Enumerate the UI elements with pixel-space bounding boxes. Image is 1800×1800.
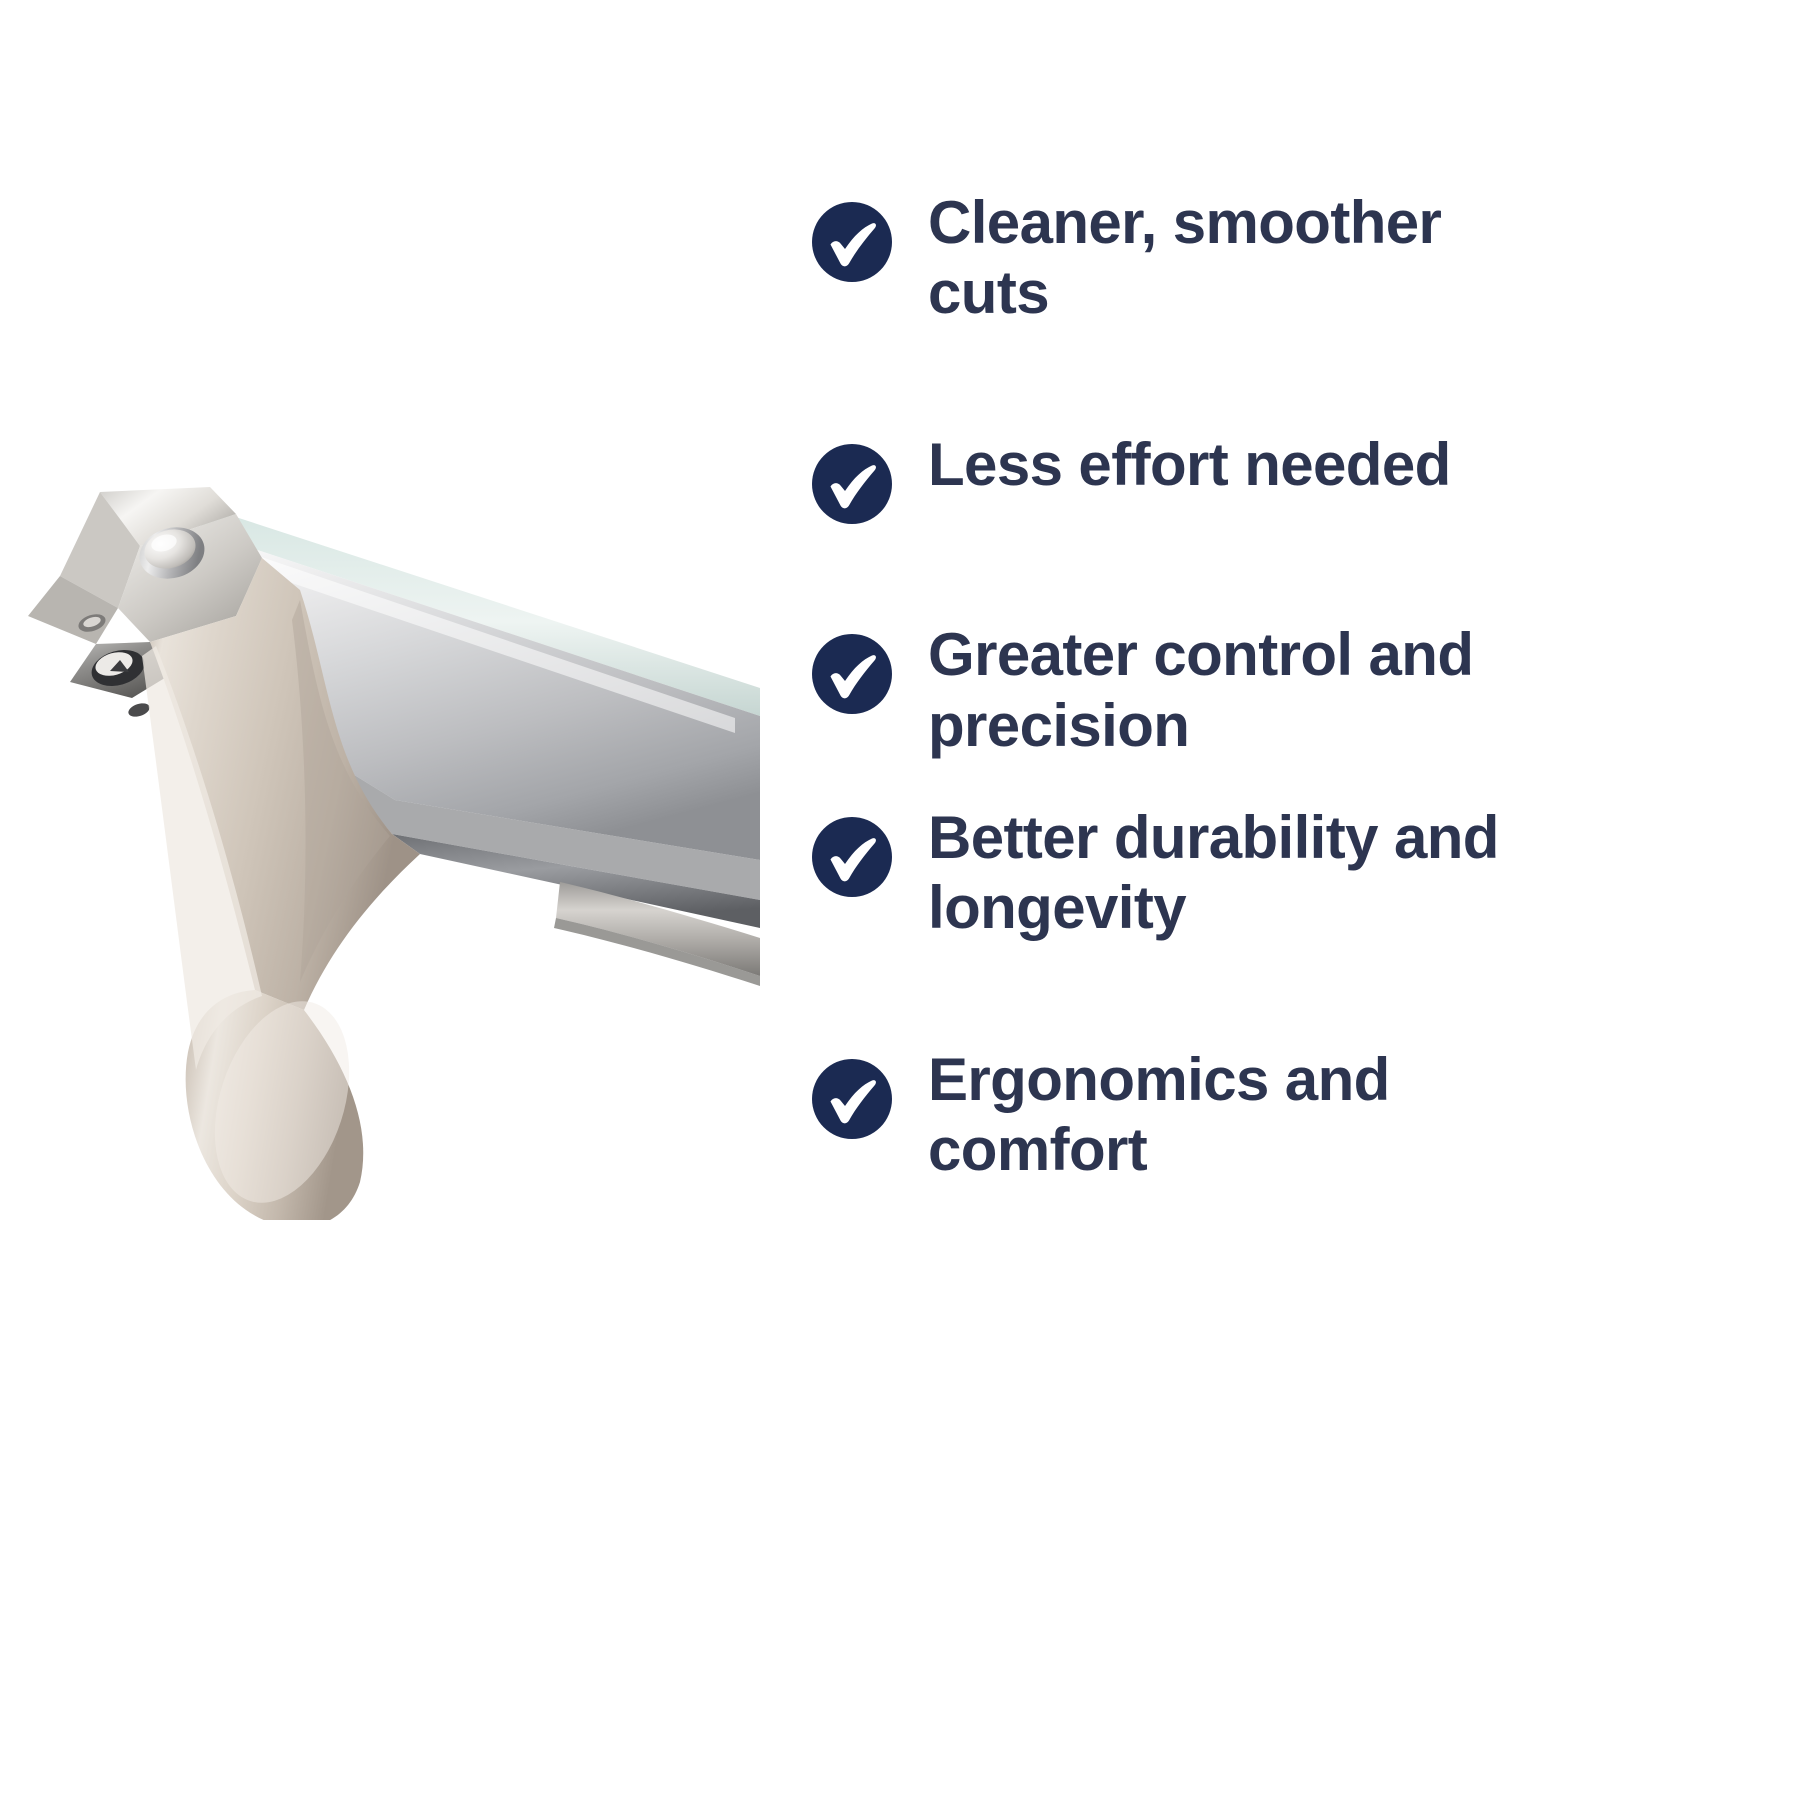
product-benefits-graphic: Stainless steel nail clipper with champa… [0, 0, 1800, 1800]
benefits-list: Cleaner, smoother cuts Less effort neede… [812, 150, 1772, 1570]
check-circle-icon [812, 817, 892, 897]
benefit-label: Ergonomics and comfort [928, 1045, 1390, 1185]
nail-clipper-illustration [0, 430, 760, 1220]
benefit-item-better-durability-and-longevity: Better durability and longevity [812, 803, 1772, 943]
benefit-item-less-effort-needed: Less effort needed [812, 430, 1772, 524]
check-circle-icon [812, 202, 892, 282]
benefit-label: Greater control and precision [928, 620, 1473, 760]
check-circle-icon [812, 444, 892, 524]
product-image: Stainless steel nail clipper with champa… [0, 430, 760, 1220]
benefit-label: Better durability and longevity [928, 803, 1499, 943]
check-circle-icon [812, 1059, 892, 1139]
benefit-item-ergonomics-and-comfort: Ergonomics and comfort [812, 1045, 1772, 1185]
benefit-label: Cleaner, smoother cuts [928, 188, 1441, 328]
benefit-item-cleaner-smoother-cuts: Cleaner, smoother cuts [812, 188, 1772, 328]
benefit-label: Less effort needed [928, 430, 1451, 500]
check-circle-icon [812, 634, 892, 714]
benefit-item-greater-control-and-precision: Greater control and precision [812, 620, 1772, 760]
